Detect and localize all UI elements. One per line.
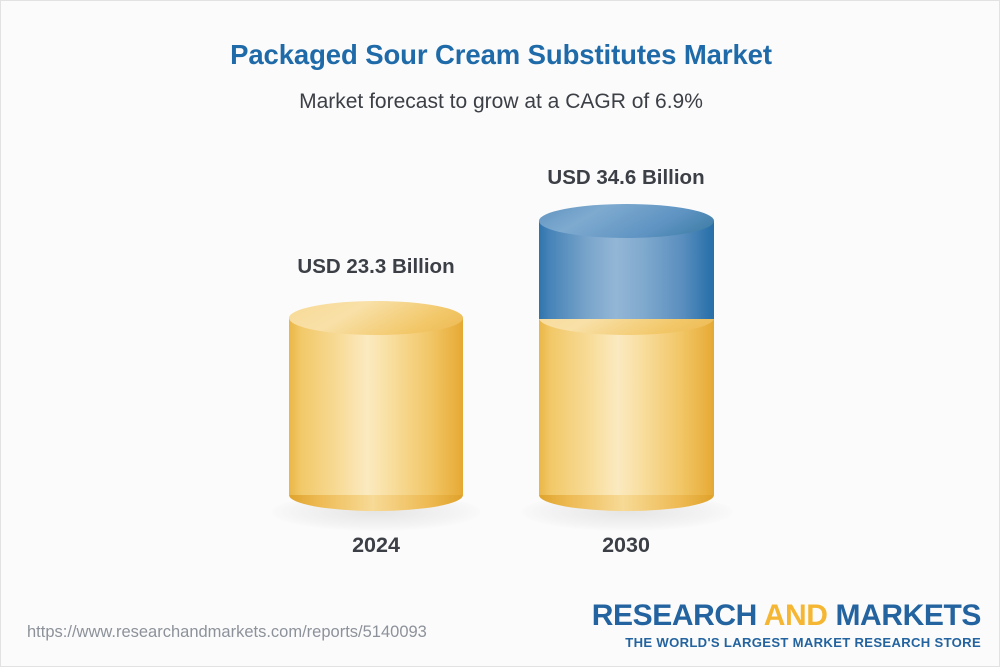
- bar-2024-value-label: USD 23.3 Billion: [276, 255, 476, 279]
- bar-2024-body: [289, 318, 463, 495]
- source-url[interactable]: https://www.researchandmarkets.com/repor…: [27, 623, 427, 642]
- bar-2024-top-cap: [289, 301, 463, 335]
- bar-2030-base-body: [539, 318, 714, 495]
- research-and-markets-logo[interactable]: RESEARCH AND MARKETS THE WORLD'S LARGEST…: [592, 601, 981, 650]
- bar-2030-growth-top-cap: [539, 204, 714, 238]
- page-title: Packaged Sour Cream Substitutes Market: [1, 39, 1000, 71]
- bar-2024-year-label: 2024: [276, 533, 476, 558]
- infographic-canvas: Packaged Sour Cream Substitutes Market M…: [0, 0, 1000, 667]
- logo-word-research: RESEARCH: [592, 599, 757, 632]
- logo-wordmark: RESEARCH AND MARKETS: [592, 601, 981, 631]
- logo-word-markets: MARKETS: [835, 599, 981, 632]
- page-subtitle: Market forecast to grow at a CAGR of 6.9…: [1, 90, 1000, 114]
- logo-word-and: AND: [764, 599, 828, 632]
- bar-2024: [289, 301, 463, 513]
- bar-2030-value-label: USD 34.6 Billion: [526, 166, 726, 190]
- bar-2030-year-label: 2030: [526, 533, 726, 558]
- logo-tagline: THE WORLD'S LARGEST MARKET RESEARCH STOR…: [592, 635, 981, 650]
- bar-2030: [539, 204, 714, 513]
